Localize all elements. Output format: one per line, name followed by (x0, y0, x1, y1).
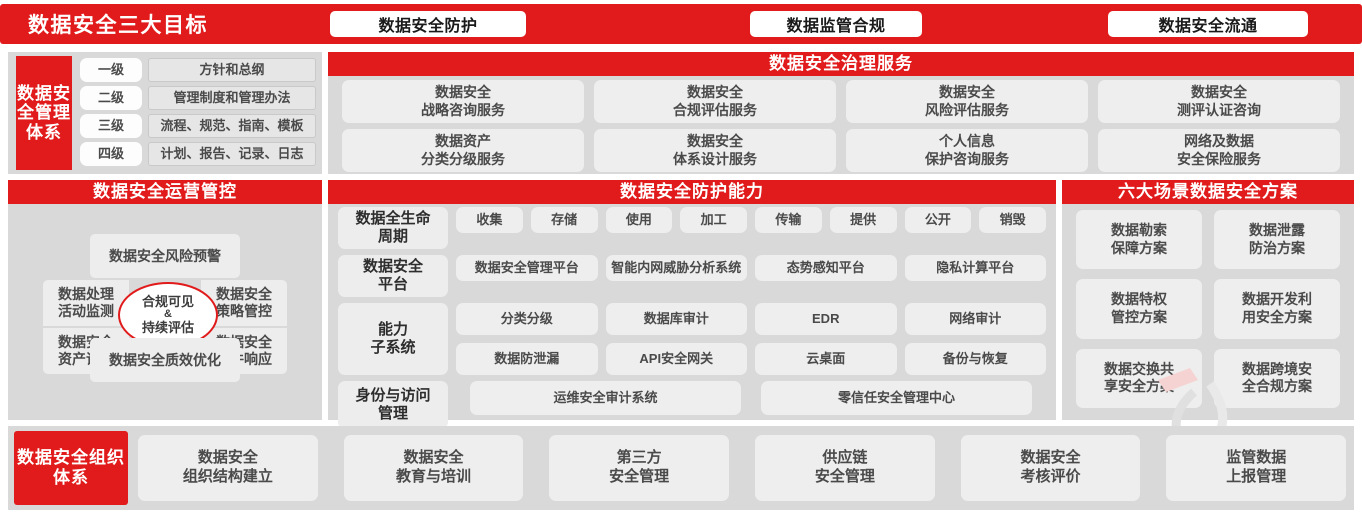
capability-chip[interactable]: 数据安全管理平台 (456, 255, 598, 281)
operations-control-body: 数据安全风险预警 数据处理活动监测 数据安全策略管控 数据安全资产识别 数据安全… (8, 204, 322, 420)
capability-chip[interactable]: 公开 (905, 207, 972, 233)
capability-chip[interactable]: 零信任安全管理中心 (761, 381, 1032, 415)
governance-services-title: 数据安全治理服务 (328, 52, 1354, 76)
level-badge: 一级 (80, 58, 142, 82)
capability-chip-line: 数据安全管理平台 智能内网威胁分析系统 态势感知平台 隐私计算平台 (456, 255, 1046, 281)
operations-control-panel: 数据安全运营管控 数据安全风险预警 数据处理活动监测 数据安全策略管控 数据安全… (8, 180, 322, 420)
level-badge: 三级 (80, 114, 142, 138)
goal-pill-secure-circulation[interactable]: 数据安全流通 (1108, 11, 1308, 37)
organization-card[interactable]: 数据安全组织结构建立 (138, 435, 318, 501)
capability-chip[interactable]: 收集 (456, 207, 523, 233)
ops-card-quality-optimization[interactable]: 数据安全质效优化 (90, 338, 240, 382)
table-row: 四级 计划、报告、记录、日志 (80, 142, 316, 166)
service-card[interactable]: 数据安全风险评估服务 (846, 80, 1088, 123)
level-badge: 四级 (80, 142, 142, 166)
capability-chip[interactable]: 备份与恢复 (905, 343, 1047, 375)
scenario-solutions-grid: 数据勒索保障方案 数据泄露防治方案 数据特权管控方案 数据开发利用安全方案 数据… (1062, 208, 1354, 414)
solution-card[interactable]: 数据勒索保障方案 (1076, 210, 1202, 269)
ops-center-line3: 持续评估 (142, 321, 194, 335)
organization-card[interactable]: 供应链安全管理 (755, 435, 935, 501)
scenario-solutions-title: 六大场景数据安全方案 (1062, 180, 1354, 204)
organization-label: 数据安全组织体系 (14, 431, 128, 505)
capability-chip[interactable]: 网络审计 (905, 303, 1047, 335)
organization-card[interactable]: 监管数据上报管理 (1166, 435, 1346, 501)
capability-chip[interactable]: 隐私计算平台 (905, 255, 1047, 281)
capability-row-label: 身份与访问管理 (338, 381, 448, 429)
goal-pill-data-security-protection[interactable]: 数据安全防护 (330, 11, 526, 37)
governance-services-panel: 数据安全治理服务 数据安全战略咨询服务 数据安全合规评估服务 数据安全风险评估服… (328, 52, 1354, 174)
solution-card[interactable]: 数据特权管控方案 (1076, 279, 1202, 338)
table-row: 一级 方针和总纲 (80, 58, 316, 82)
protection-capability-title: 数据安全防护能力 (328, 180, 1056, 204)
capability-chip[interactable]: 销毁 (979, 207, 1046, 233)
capability-chip[interactable]: 存储 (531, 207, 598, 233)
service-card[interactable]: 数据安全测评认证咨询 (1098, 80, 1340, 123)
capability-chip-line: 收集 存储 使用 加工 传输 提供 公开 销毁 (456, 207, 1046, 233)
organization-card[interactable]: 第三方安全管理 (549, 435, 729, 501)
management-system-rows: 一级 方针和总纲 二级 管理制度和管理办法 三级 流程、规范、指南、模板 四级 … (80, 58, 316, 170)
capability-row-values: 分类分级 数据库审计 EDR 网络审计 数据防泄漏 API安全网关 云桌面 备份… (456, 303, 1046, 375)
capability-chip[interactable]: 分类分级 (456, 303, 598, 335)
service-card[interactable]: 数据安全合规评估服务 (594, 80, 836, 123)
capability-chip-line: 运维安全审计系统 零信任安全管理中心 (456, 381, 1046, 415)
top-goals-bar: 数据安全三大目标 数据安全防护 数据监管合规 数据安全流通 (0, 4, 1362, 44)
ops-center-line1: 合规可见 (142, 295, 194, 309)
management-system-panel: 数据安全管理体系 一级 方针和总纲 二级 管理制度和管理办法 三级 流程、规范、… (8, 52, 322, 174)
governance-services-grid: 数据安全战略咨询服务 数据安全合规评估服务 数据安全风险评估服务 数据安全测评认… (328, 80, 1354, 172)
organization-card[interactable]: 数据安全教育与培训 (344, 435, 524, 501)
capability-chip[interactable]: API安全网关 (606, 343, 748, 375)
solution-card[interactable]: 数据跨境安全合规方案 (1214, 349, 1340, 408)
capability-chip[interactable]: 数据防泄漏 (456, 343, 598, 375)
table-row: 二级 管理制度和管理办法 (80, 86, 316, 110)
capability-row-values: 收集 存储 使用 加工 传输 提供 公开 销毁 (456, 207, 1046, 249)
capability-row-lifecycle: 数据全生命周期 收集 存储 使用 加工 传输 提供 公开 销毁 (328, 207, 1056, 255)
goal-pill-regulatory-compliance[interactable]: 数据监管合规 (750, 11, 922, 37)
capability-chip-line: 数据防泄漏 API安全网关 云桌面 备份与恢复 (456, 343, 1046, 375)
capability-row-label: 数据全生命周期 (338, 207, 448, 249)
capability-rows: 数据全生命周期 收集 存储 使用 加工 传输 提供 公开 销毁 数据安全平台 (328, 207, 1056, 435)
organization-panel: 数据安全组织体系 数据安全组织结构建立 数据安全教育与培训 第三方安全管理 供应… (8, 426, 1354, 510)
management-system-label: 数据安全管理体系 (16, 56, 72, 170)
capability-row-values: 运维安全审计系统 零信任安全管理中心 (456, 381, 1046, 429)
capability-row-subsystems: 能力子系统 分类分级 数据库审计 EDR 网络审计 数据防泄漏 API安全网关 … (328, 303, 1056, 381)
capability-chip[interactable]: 数据库审计 (606, 303, 748, 335)
table-row: 三级 流程、规范、指南、模板 (80, 114, 316, 138)
level-description: 流程、规范、指南、模板 (148, 114, 316, 138)
organization-items: 数据安全组织结构建立 数据安全教育与培训 第三方安全管理 供应链安全管理 数据安… (138, 435, 1346, 501)
capability-chip[interactable]: EDR (755, 303, 897, 335)
ops-card-activity-monitoring[interactable]: 数据处理活动监测 (43, 280, 129, 326)
level-badge: 二级 (80, 86, 142, 110)
capability-row-label: 能力子系统 (338, 303, 448, 375)
capability-chip[interactable]: 运维安全审计系统 (470, 381, 741, 415)
solution-card[interactable]: 数据交换共享安全方案 (1076, 349, 1202, 408)
capability-chip-line: 分类分级 数据库审计 EDR 网络审计 (456, 303, 1046, 335)
service-card[interactable]: 数据资产分类分级服务 (342, 129, 584, 172)
scenario-solutions-panel: 六大场景数据安全方案 数据勒索保障方案 数据泄露防治方案 数据特权管控方案 数据… (1062, 180, 1354, 420)
operations-control-title: 数据安全运营管控 (8, 180, 322, 204)
capability-row-platform: 数据安全平台 数据安全管理平台 智能内网威胁分析系统 态势感知平台 隐私计算平台 (328, 255, 1056, 303)
service-card[interactable]: 数据安全战略咨询服务 (342, 80, 584, 123)
capability-chip[interactable]: 加工 (680, 207, 747, 233)
page-title: 数据安全三大目标 (28, 4, 208, 44)
organization-card[interactable]: 数据安全考核评价 (961, 435, 1141, 501)
level-description: 管理制度和管理办法 (148, 86, 316, 110)
capability-row-values: 数据安全管理平台 智能内网威胁分析系统 态势感知平台 隐私计算平台 (456, 255, 1046, 297)
capability-chip[interactable]: 智能内网威胁分析系统 (606, 255, 748, 281)
capability-chip[interactable]: 态势感知平台 (755, 255, 897, 281)
level-description: 计划、报告、记录、日志 (148, 142, 316, 166)
solution-card[interactable]: 数据泄露防治方案 (1214, 210, 1340, 269)
capability-chip[interactable]: 云桌面 (755, 343, 897, 375)
service-card[interactable]: 个人信息保护咨询服务 (846, 129, 1088, 172)
capability-chip[interactable]: 使用 (606, 207, 673, 233)
capability-row-label: 数据安全平台 (338, 255, 448, 297)
capability-chip[interactable]: 传输 (755, 207, 822, 233)
level-description: 方针和总纲 (148, 58, 316, 82)
ops-card-risk-warning[interactable]: 数据安全风险预警 (90, 234, 240, 278)
protection-capability-panel: 数据安全防护能力 数据全生命周期 收集 存储 使用 加工 传输 提供 公开 销毁 (328, 180, 1056, 420)
service-card[interactable]: 网络及数据安全保险服务 (1098, 129, 1340, 172)
service-card[interactable]: 数据安全体系设计服务 (594, 129, 836, 172)
capability-chip[interactable]: 提供 (830, 207, 897, 233)
solution-card[interactable]: 数据开发利用安全方案 (1214, 279, 1340, 338)
dashboard-root: 数据安全三大目标 数据安全防护 数据监管合规 数据安全流通 数据安全管理体系 一… (0, 0, 1362, 516)
